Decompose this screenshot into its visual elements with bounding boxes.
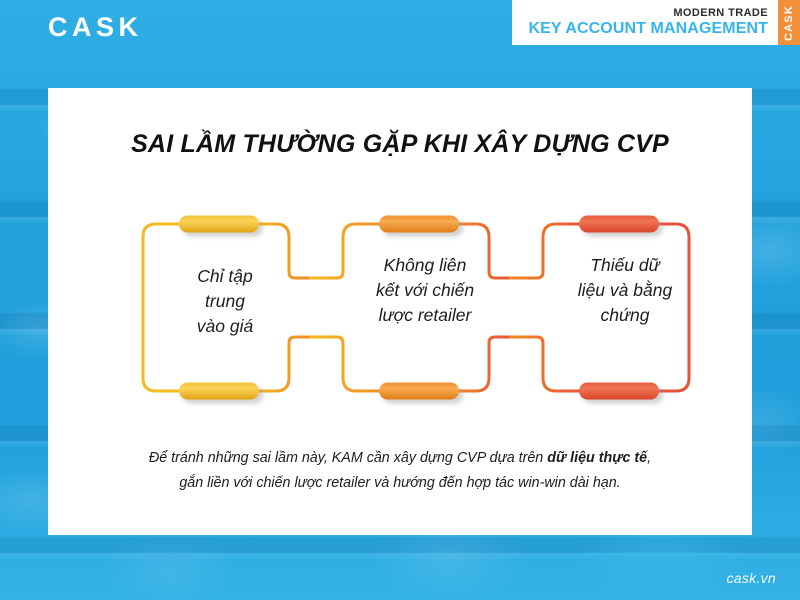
site-url: cask.vn: [726, 570, 776, 586]
box-2-bottom-bar: [379, 383, 459, 400]
box-1-label: Chỉ tập trung vào giá: [145, 264, 305, 339]
box-1-label-line-1: Chỉ tập: [145, 264, 305, 289]
box-3-label: Thiếu dữ liệu và bằng chứng: [545, 253, 705, 328]
box-3-top-bar: [579, 216, 659, 233]
box-2-label-line-3: lược retailer: [345, 303, 505, 328]
connector-1-bottom-left: [252, 337, 310, 391]
content-card: SAI LẦM THƯỜNG GẶP KHI XÂY DỰNG CVP: [48, 88, 752, 535]
page-title: SAI LẦM THƯỜNG GẶP KHI XÂY DỰNG CVP: [48, 130, 752, 159]
box-3-label-line-2: liệu và bằng: [545, 278, 705, 303]
box-3-label-line-3: chứng: [545, 303, 705, 328]
connector-2-bottom-right: [510, 337, 586, 391]
box-1-label-line-3: vào giá: [145, 314, 305, 339]
badge-line-modern-trade: MODERN TRADE: [673, 7, 768, 20]
header-badge-strip-label: CASK: [783, 5, 795, 41]
header-badge: MODERN TRADE KEY ACCOUNT MANAGEMENT CASK: [512, 0, 800, 45]
connector-1-bottom-right: [310, 337, 386, 391]
header-badge-text: MODERN TRADE KEY ACCOUNT MANAGEMENT: [512, 0, 778, 45]
box-1-top-bar: [179, 216, 259, 233]
badge-line-key-account-management: KEY ACCOUNT MANAGEMENT: [528, 20, 768, 38]
box-2-label-line-2: kết với chiến: [345, 278, 505, 303]
footer-note-line-1-post: ,: [647, 450, 651, 466]
box-2-label-line-1: Không liên: [345, 253, 505, 278]
footer-note-line-1-pre: Để tránh những sai lầm này, KAM cần xây …: [149, 450, 547, 466]
box-3-label-line-1: Thiếu dữ: [545, 253, 705, 278]
header-badge-strip: CASK: [778, 0, 800, 45]
diagram: Chỉ tập trung vào giá Không liên kết với…: [48, 206, 752, 411]
cask-logo: CASK: [48, 14, 143, 41]
box-1-bottom-bar: [179, 383, 259, 400]
box-1-label-line-2: trung: [145, 289, 305, 314]
connector-2-bottom-left: [452, 337, 510, 391]
slide-root: CASK MODERN TRADE KEY ACCOUNT MANAGEMENT…: [0, 0, 800, 600]
box-2-top-bar: [379, 216, 459, 233]
footer-note-emphasis: dữ liệu thực tế: [547, 450, 647, 466]
footer-note: Để tránh những sai lầm này, KAM cần xây …: [88, 446, 712, 496]
footer-note-line-2: gắn liền với chiến lược retailer và hướn…: [88, 471, 712, 496]
box-3-bottom-bar: [579, 383, 659, 400]
footer-note-line-1: Để tránh những sai lầm này, KAM cần xây …: [88, 446, 712, 471]
box-2-label: Không liên kết với chiến lược retailer: [345, 253, 505, 328]
